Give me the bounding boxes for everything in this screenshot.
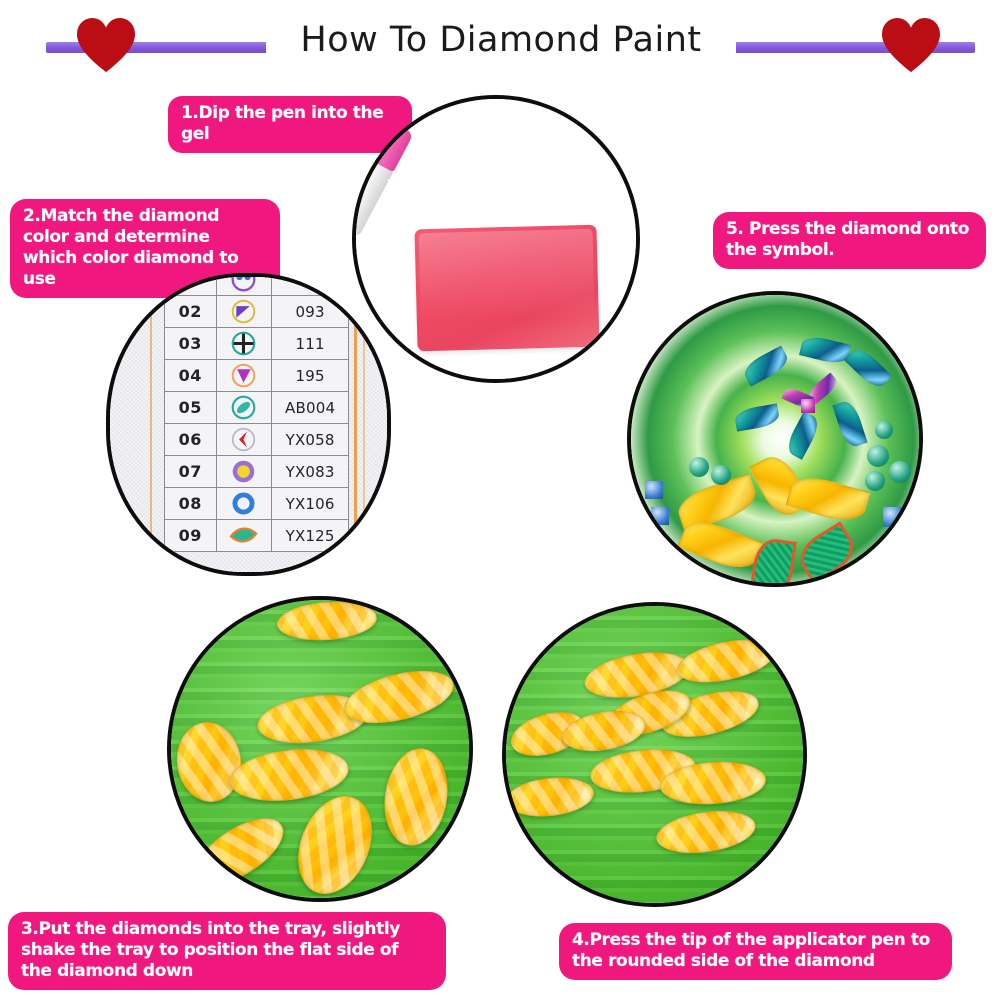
table-row: 03 111 bbox=[165, 328, 349, 360]
gem-round-small bbox=[651, 507, 669, 525]
heart-icon bbox=[75, 17, 137, 75]
row-code: AB004 bbox=[272, 392, 349, 424]
gem-round-small bbox=[889, 461, 911, 483]
chart-margin-line bbox=[363, 273, 365, 576]
color-chart-table: 020 02 093 03 bbox=[164, 273, 349, 552]
row-number: 06 bbox=[165, 424, 217, 456]
step-3-label: 3.Put the diamonds into the tray, slight… bbox=[8, 912, 446, 990]
row-code: YX125 bbox=[272, 520, 349, 552]
row-number: 04 bbox=[165, 360, 217, 392]
gem-round-small bbox=[689, 457, 709, 477]
table-row: 07 YX083 bbox=[165, 456, 349, 488]
gem-round-small bbox=[875, 421, 893, 439]
row-number: 08 bbox=[165, 488, 217, 520]
page-title: How To Diamond Paint bbox=[266, 18, 736, 62]
symbol-purple-triangle-in-yellow-circle bbox=[216, 296, 272, 328]
photo-dip-pen-in-gel bbox=[352, 95, 640, 383]
chart-margin-line bbox=[150, 273, 152, 576]
photo-color-chart: 020 02 093 03 bbox=[106, 273, 391, 576]
symbol-teal-plus-in-circle bbox=[216, 328, 272, 360]
gel-pad bbox=[414, 225, 599, 352]
photo-pickup-diamond bbox=[502, 602, 807, 907]
table-row: 06 YX058 bbox=[165, 424, 349, 456]
row-number: 02 bbox=[165, 296, 217, 328]
table-row: 09 YX125 bbox=[165, 520, 349, 552]
row-code: 195 bbox=[272, 360, 349, 392]
heart-icon bbox=[880, 17, 942, 75]
photo-diamonds-in-tray bbox=[167, 596, 473, 902]
row-code: 020 bbox=[272, 273, 349, 296]
symbol-magenta-triangle-in-orange-circle bbox=[216, 360, 272, 392]
row-code: YX058 bbox=[272, 424, 349, 456]
row-code: YX083 bbox=[272, 456, 349, 488]
gem-round-small bbox=[711, 465, 731, 485]
row-number: 03 bbox=[165, 328, 217, 360]
step-5-label: 5. Press the diamond onto the symbol. bbox=[713, 212, 986, 269]
symbol-red-arrow-in-circle bbox=[216, 424, 272, 456]
row-code: YX106 bbox=[272, 488, 349, 520]
row-number: 07 bbox=[165, 456, 217, 488]
row-number: 05 bbox=[165, 392, 217, 424]
symbol-yellow-dot-in-purple-ring bbox=[216, 456, 272, 488]
step-4-label: 4.Press the tip of the applicator pen to… bbox=[559, 923, 952, 980]
symbol-teal-oval-in-circle bbox=[216, 392, 272, 424]
gem-round-small bbox=[645, 481, 663, 499]
gem-round-small bbox=[865, 471, 885, 491]
row-code: 093 bbox=[272, 296, 349, 328]
chart-margin-line bbox=[354, 273, 357, 576]
table-row: 02 093 bbox=[165, 296, 349, 328]
row-number bbox=[165, 273, 217, 296]
photo-press-diamond-on-symbol bbox=[627, 291, 923, 587]
table-row: 020 bbox=[165, 273, 349, 296]
page-header: How To Diamond Paint bbox=[0, 0, 1001, 90]
row-code: 111 bbox=[272, 328, 349, 360]
symbol-teal-leaf-orange-outline bbox=[216, 520, 272, 552]
table-row: 04 195 bbox=[165, 360, 349, 392]
gem-round-small bbox=[801, 399, 815, 413]
gem-round-small bbox=[867, 445, 889, 467]
table-row: 05 AB004 bbox=[165, 392, 349, 424]
table-row: 08 YX106 bbox=[165, 488, 349, 520]
row-number: 09 bbox=[165, 520, 217, 552]
symbol-blue-dots-in-purple-circle bbox=[216, 273, 272, 296]
symbol-blue-ring bbox=[216, 488, 272, 520]
gem-round-small bbox=[883, 507, 903, 527]
